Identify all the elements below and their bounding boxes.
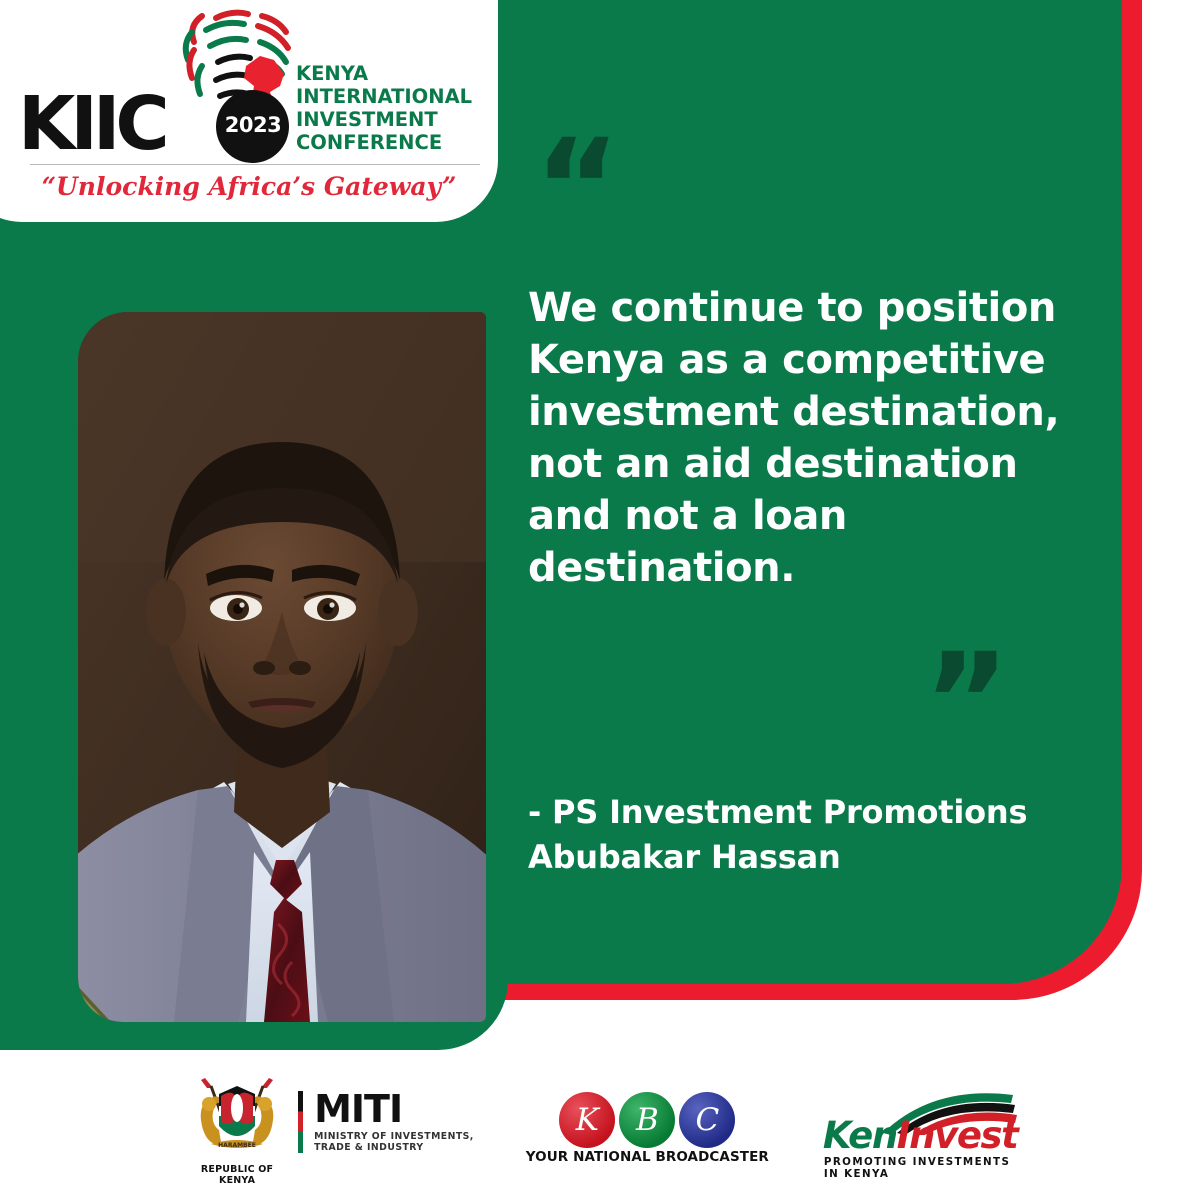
conference-line-4: CONFERENCE: [296, 131, 472, 154]
poster-canvas: KIIC 2023 KENYA INTERNATIONAL INVESTMENT…: [0, 0, 1200, 1199]
conference-line-1: KENYA: [296, 62, 472, 85]
footer-logo-bar: HARAMBEE REPUBLIC OF KENYA MITI MINISTRY…: [0, 1058, 1200, 1199]
conference-line-3: INVESTMENT: [296, 108, 472, 131]
miti-subtitle-line-2: TRADE & INDUSTRY: [314, 1142, 474, 1154]
speaker-portrait: [78, 312, 486, 1022]
keninvest-wordmark: KenInvest: [823, 1117, 1018, 1154]
miti-logo: HARAMBEE REPUBLIC OF KENYA MITI MINISTRY…: [183, 1072, 474, 1186]
keninvest-ken: Ken: [823, 1114, 897, 1157]
logo-card: KIIC 2023 KENYA INTERNATIONAL INVESTMENT…: [0, 0, 498, 222]
kbc-letter-balls: K B C: [526, 1092, 769, 1148]
kbc-ball-k: K: [559, 1092, 615, 1148]
logo-tagline: “Unlocking Africa’s Gateway”: [18, 172, 480, 201]
svg-text:HARAMBEE: HARAMBEE: [218, 1142, 256, 1149]
logo-divider-rule: [30, 164, 480, 165]
quote-column: “ We continue to position Kenya as a com…: [528, 0, 1108, 984]
conference-name: KENYA INTERNATIONAL INVESTMENT CONFERENC…: [296, 62, 472, 154]
kbc-logo: K B C YOUR NATIONAL BROADCASTER: [526, 1092, 769, 1165]
miti-wordmark: MITI: [314, 1091, 474, 1127]
miti-text-block: MITI MINISTRY OF INVESTMENTS, TRADE & IN…: [314, 1091, 474, 1166]
kenya-coat-of-arms: HARAMBEE REPUBLIC OF KENYA: [183, 1072, 291, 1186]
opening-quote-mark: “: [534, 122, 617, 254]
coat-of-arms-caption: REPUBLIC OF KENYA: [183, 1164, 291, 1186]
kiico-wordmark: KIIC: [18, 87, 165, 161]
logo-card-inner: KIIC 2023 KENYA INTERNATIONAL INVESTMENT…: [0, 0, 498, 222]
keninvest-logo: KenInvest PROMOTING INVESTMENTS IN KENYA: [821, 1087, 1017, 1171]
kbc-tagline: YOUR NATIONAL BROADCASTER: [526, 1149, 769, 1165]
miti-flag-divider: [298, 1091, 303, 1153]
quote-attribution: - PS Investment Promotions Abubakar Hass…: [528, 790, 1088, 880]
kbc-ball-c: C: [679, 1092, 735, 1148]
kiico-year-label: 2023: [224, 113, 282, 137]
keninvest-tagline: PROMOTING INVESTMENTS IN KENYA: [824, 1156, 1017, 1180]
closing-quote-mark: ”: [923, 636, 1006, 768]
kiico-logo: KIIC 2023 KENYA INTERNATIONAL INVESTMENT…: [18, 2, 480, 208]
conference-line-2: INTERNATIONAL: [296, 85, 472, 108]
kbc-ball-b: B: [619, 1092, 675, 1148]
miti-subtitle-line-1: MINISTRY OF INVESTMENTS,: [314, 1131, 474, 1143]
keninvest-invest: Invest: [897, 1114, 1018, 1157]
miti-subtitle: MINISTRY OF INVESTMENTS, TRADE & INDUSTR…: [314, 1131, 474, 1154]
coat-of-arms-icon: HARAMBEE: [187, 1072, 287, 1158]
quote-text: We continue to position Kenya as a compe…: [528, 282, 1106, 594]
